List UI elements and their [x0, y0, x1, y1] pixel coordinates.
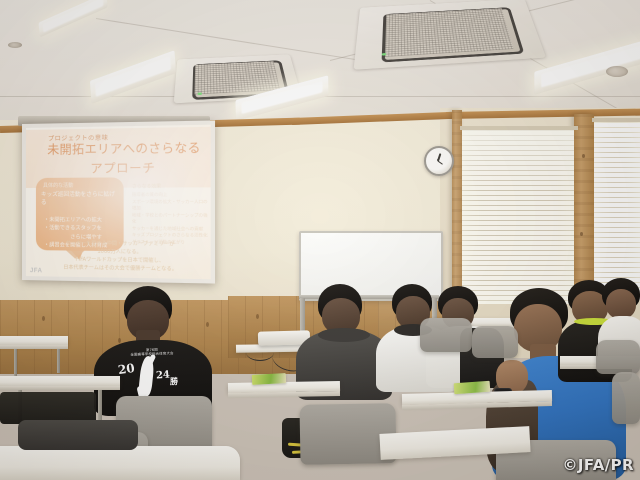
wall-clock [424, 146, 454, 176]
desk-leg-4 [98, 390, 102, 422]
window-light-bleed [462, 130, 574, 190]
projection-screen: プロジェクトの意味 未開拓エリアへのさらなる アプローチ 具体的な活動 キッズ巡… [22, 120, 215, 283]
window-blinds-right[interactable] [594, 122, 640, 300]
slide-title-line1: 未開拓エリアへのさらなる [42, 141, 206, 157]
green-booklet-center[interactable] [252, 373, 286, 385]
right-column-heading: さらなる効果 [132, 183, 209, 191]
right-column-item: スポーツ環境の拡大・サッカー人口の増加 [132, 198, 209, 212]
desk-leg-2 [57, 349, 60, 373]
table-front-left [0, 446, 240, 480]
chair-row-right[interactable] [420, 318, 472, 352]
classroom-photo: プロジェクトの意味 未開拓エリアへのさらなる アプローチ 具体的な活動 キッズ巡… [0, 0, 640, 480]
hoodie-collar [318, 328, 370, 342]
shirt-number: 24 [156, 370, 171, 382]
ceiling-vent-3 [8, 42, 22, 48]
slide-title-line2: アプローチ [42, 158, 206, 177]
jfa-logo: JFA [30, 268, 43, 274]
chair-behind-blue[interactable] [612, 372, 640, 424]
shirt-graphic: 第76回 全国高等学校総合体育大会 20 24 勝 [112, 348, 192, 402]
wall-corner-post [452, 110, 462, 310]
shirt-kanji: 勝 [170, 376, 178, 387]
desk-leg-1 [14, 349, 17, 377]
chair-row-far-right[interactable] [596, 340, 640, 374]
head [606, 289, 636, 319]
projector-cable-1 [246, 344, 274, 361]
desk-mid-left [0, 376, 120, 386]
ceiling-ac-unit-right [354, 0, 547, 70]
ceiling-vent-1 [606, 66, 628, 77]
chair-dark-front[interactable] [18, 420, 138, 450]
slide-right-column: さらなる効果 指導者の質の向上 スポーツ環境の拡大・サッカー人口の増加 地域・学… [132, 183, 209, 246]
shirt-year: 20 [117, 361, 135, 377]
slide-footer-line1: サッカーを愛する仲間・サッカーファミリーが 1000万人になる。 [38, 240, 204, 257]
bubble-heading: 具体的な活動 [43, 182, 73, 189]
slide-footer-line2: FIFAワールドカップを日本で開催し、 日本代表チームはその大会で優勝チームとな… [38, 256, 204, 274]
copyright-watermark: ©JFA/PR [562, 456, 634, 474]
right-column-item: 地域・学校とのパートナーシップの強化 [132, 212, 209, 226]
desk-back-left [0, 336, 68, 345]
chair-row-right-2[interactable] [472, 326, 518, 358]
bubble-lead: キッズ巡回活動をさらに拡げる [41, 191, 121, 208]
presentation-slide: プロジェクトの意味 未開拓エリアへのさらなる アプローチ 具体的な活動 キッズ巡… [26, 125, 211, 280]
window-frame-right [592, 118, 640, 122]
